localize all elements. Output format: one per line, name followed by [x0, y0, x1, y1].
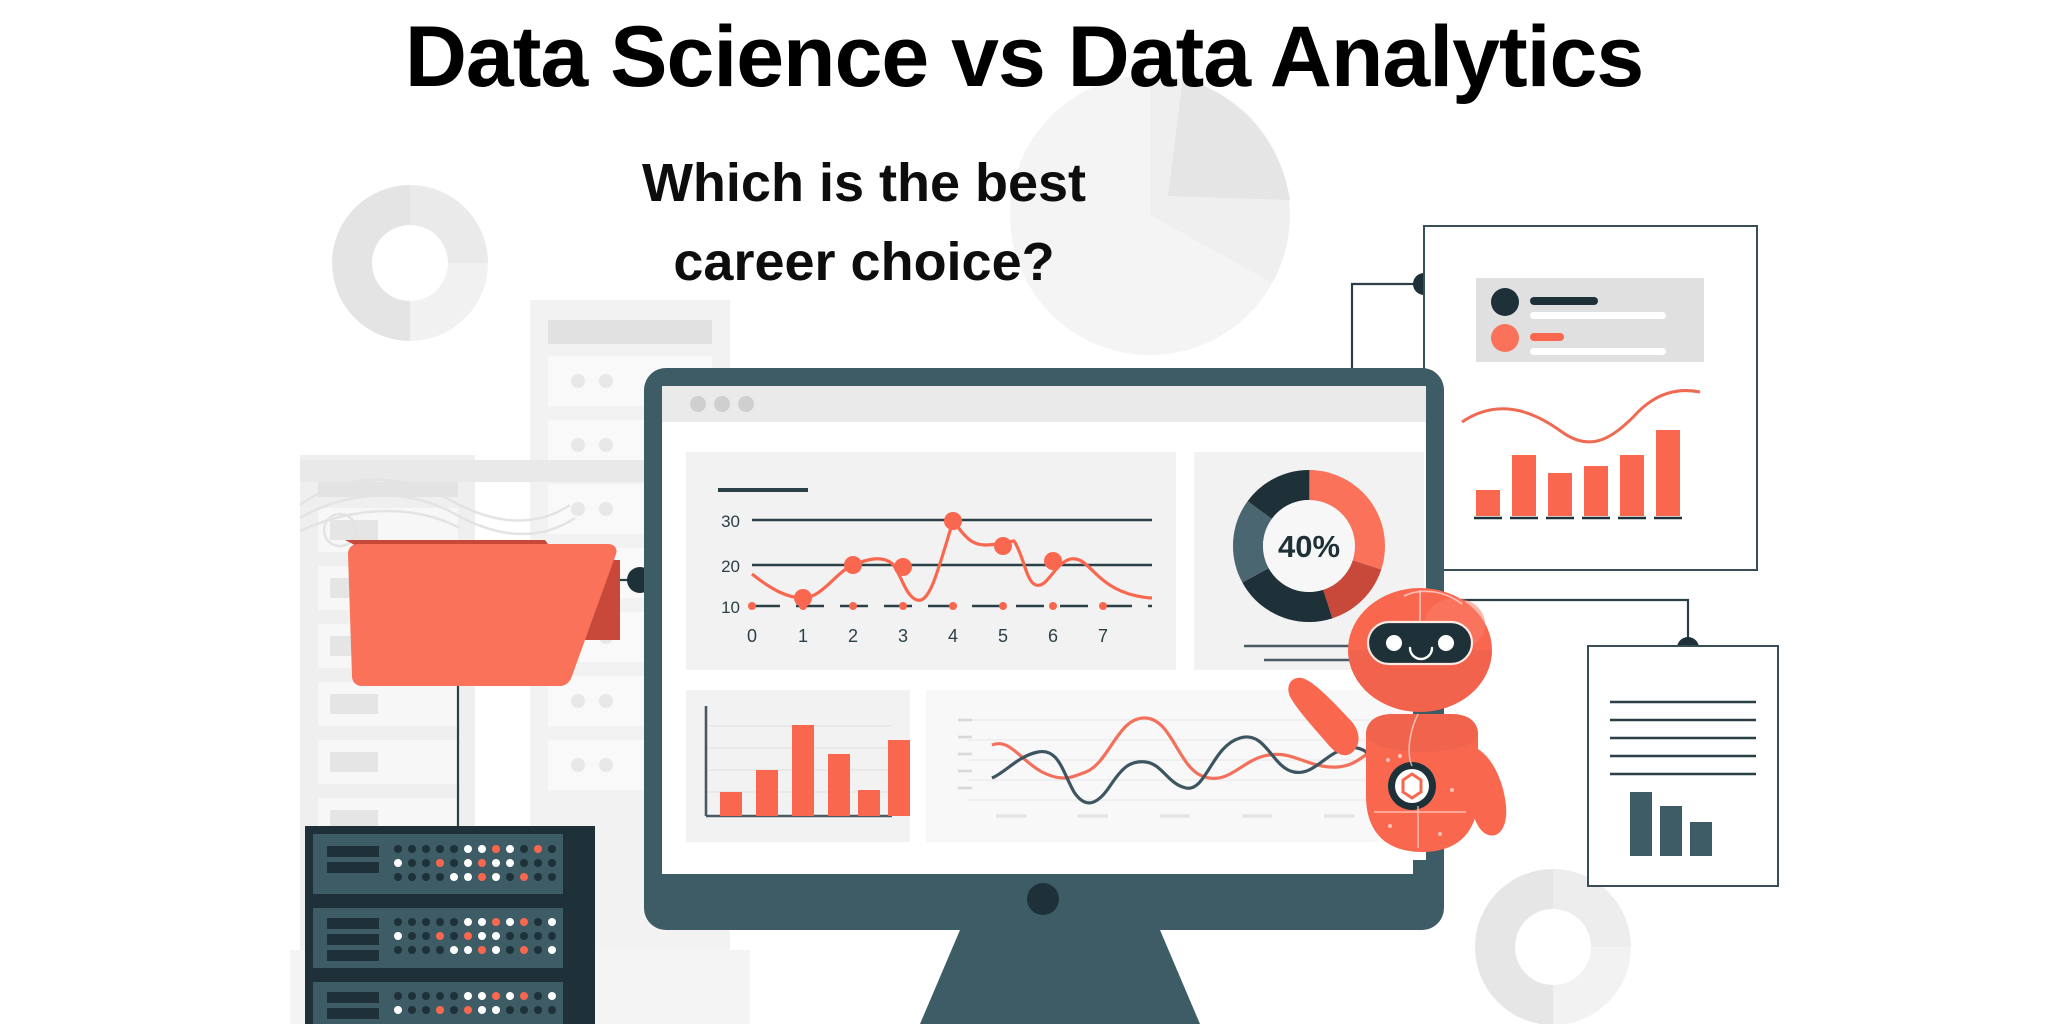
- x-tick-7: 7: [1098, 626, 1108, 646]
- x-tick-4: 4: [948, 626, 958, 646]
- wave-chart-panel[interactable]: [926, 690, 1424, 842]
- x-tick-6: 6: [1048, 626, 1058, 646]
- legend-dot-coral-icon: [1491, 324, 1519, 352]
- y-tick-30: 30: [721, 512, 740, 531]
- legend-dot-dark-icon: [1491, 288, 1519, 316]
- y-tick-10: 10: [721, 598, 740, 617]
- window-dot-2-icon[interactable]: [714, 396, 730, 412]
- robot-base-pole: [1413, 860, 1429, 920]
- x-tick-3: 3: [898, 626, 908, 646]
- x-tick-2: 2: [848, 626, 858, 646]
- robot-eye-left-icon: [1386, 635, 1402, 651]
- window-title-bar: [662, 386, 1426, 422]
- x-tick-0: 0: [747, 626, 757, 646]
- server-rack-stack: [305, 826, 595, 1024]
- monitor-stand: [920, 930, 1200, 1024]
- server-unit-1: [313, 834, 563, 894]
- document-card[interactable]: [1588, 646, 1778, 886]
- x-tick-1: 1: [798, 626, 808, 646]
- window-dot-1-icon[interactable]: [690, 396, 706, 412]
- y-tick-20: 20: [721, 557, 740, 576]
- server-unit-2: [313, 908, 563, 968]
- legend-box: [1476, 278, 1704, 362]
- window-dot-3-icon[interactable]: [738, 396, 754, 412]
- x-tick-5: 5: [998, 626, 1008, 646]
- illustration-canvas: Data Science vs Data Analytics Which is …: [0, 0, 2048, 1024]
- analytics-card[interactable]: [1424, 226, 1757, 570]
- robot-eye-right-icon: [1438, 635, 1454, 651]
- line-chart-panel[interactable]: 30 20 10 0 1 2 3 4 5 6 7: [686, 452, 1176, 670]
- bar-chart-panel[interactable]: [686, 690, 910, 842]
- donut-center-label: 40%: [1278, 529, 1340, 564]
- power-button[interactable]: [1027, 883, 1059, 915]
- robot-visor: [1368, 622, 1472, 664]
- server-unit-3: [313, 982, 563, 1024]
- main-illustration-layer: 30 20 10 0 1 2 3 4 5 6 7: [0, 0, 2048, 1024]
